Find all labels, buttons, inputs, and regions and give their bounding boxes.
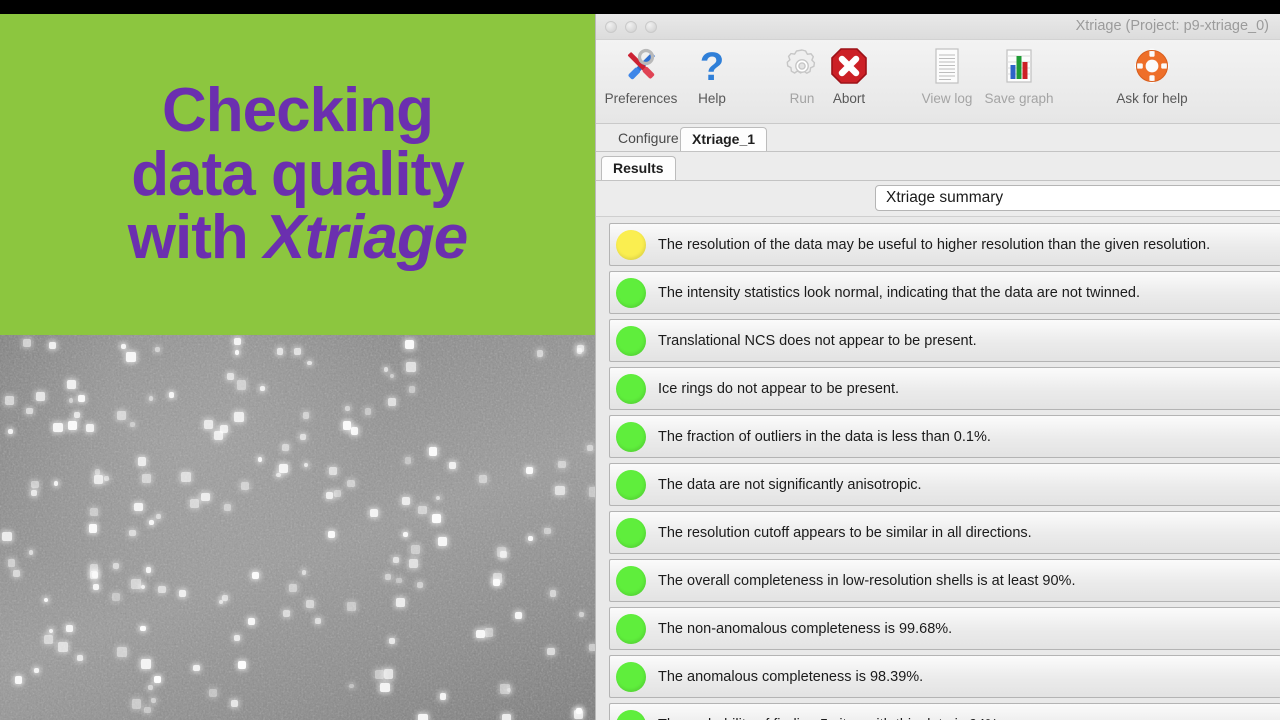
title-line-3-italic: Xtriage (264, 203, 467, 272)
diffraction-spot (158, 586, 166, 594)
diffraction-spot (440, 693, 447, 700)
result-row[interactable]: The intensity statistics look normal, in… (609, 271, 1280, 314)
screen: Checking data quality with Xtriage (0, 0, 1280, 720)
diffraction-spot (234, 338, 241, 345)
status-ok-icon (616, 374, 646, 404)
diffraction-spot (388, 398, 396, 406)
diffraction-spot (558, 461, 566, 469)
help-button[interactable]: ? Help (669, 42, 755, 106)
status-ok-icon (616, 614, 646, 644)
diffraction-spot (283, 610, 290, 617)
document-icon (926, 42, 968, 90)
diffraction-spot (220, 425, 228, 433)
diffraction-spot (181, 472, 191, 482)
diffraction-spot (241, 482, 249, 490)
bar-chart-icon (998, 42, 1040, 90)
diffraction-spot (277, 348, 284, 355)
diffraction-spot (248, 618, 255, 625)
diffraction-spot (66, 625, 74, 633)
diffraction-spot (418, 714, 428, 720)
diffraction-spot (303, 412, 310, 419)
diffraction-spot (537, 350, 544, 357)
diffraction-spot (380, 683, 390, 693)
diffraction-spot (502, 714, 510, 720)
diffraction-spot (67, 380, 77, 390)
diffraction-spot (409, 559, 418, 568)
diffraction-spot (411, 545, 420, 554)
diffraction-spot (112, 593, 120, 601)
save-graph-button[interactable]: Save graph (976, 42, 1062, 106)
diffraction-spot (90, 508, 98, 516)
diffraction-spot (69, 398, 74, 403)
diffraction-spot (429, 447, 438, 456)
sub-tab-bar: Results (596, 152, 1280, 181)
diffraction-spot (384, 367, 389, 372)
result-row[interactable]: Translational NCS does not appear to be … (609, 319, 1280, 362)
x-ray-diffraction-image (0, 335, 595, 720)
diffraction-spot (485, 628, 494, 637)
diffraction-spot (117, 411, 126, 420)
diffraction-spot (53, 423, 63, 433)
result-text: The fraction of outliers in the data is … (658, 429, 991, 445)
result-row[interactable]: The resolution cutoff appears to be simi… (609, 511, 1280, 554)
diffraction-spot (438, 537, 447, 546)
abort-button[interactable]: Abort (806, 42, 892, 106)
diffraction-spot (121, 344, 126, 349)
title-line-1: Checking (162, 79, 433, 143)
diffraction-spot (2, 532, 12, 542)
result-text: The overall completeness in low-resoluti… (658, 573, 1075, 589)
diffraction-spot (258, 457, 263, 462)
result-row[interactable]: The data are not significantly anisotrop… (609, 463, 1280, 506)
abort-label: Abort (833, 91, 865, 106)
diffraction-spot (343, 421, 352, 430)
diffraction-spot (417, 582, 423, 588)
result-text: The intensity statistics look normal, in… (658, 285, 1140, 301)
diffraction-spot (130, 422, 135, 427)
diffraction-spot (141, 659, 151, 669)
diffraction-spot (126, 352, 136, 362)
diffraction-spot (300, 434, 306, 440)
diffraction-spot (149, 520, 154, 525)
diffraction-spot (5, 396, 14, 405)
diffraction-spot (151, 698, 156, 703)
preferences-label: Preferences (605, 91, 678, 106)
diffraction-spot (328, 531, 335, 538)
results-list[interactable]: The resolution of the data may be useful… (596, 217, 1280, 720)
tools-icon (620, 42, 662, 90)
diffraction-spot (574, 710, 583, 719)
diffraction-spot (389, 638, 395, 644)
diffraction-spot (179, 590, 186, 597)
diffraction-spot (555, 486, 565, 496)
diffraction-spot (142, 474, 151, 483)
title-line-2: data quality (131, 143, 464, 207)
result-row[interactable]: The overall completeness in low-resoluti… (609, 559, 1280, 602)
window-controls[interactable] (605, 21, 657, 33)
title-line-3: with Xtriage (128, 206, 467, 270)
diffraction-spot (370, 509, 378, 517)
ask-for-help-button[interactable]: Ask for help (1102, 42, 1202, 106)
diffraction-spot (528, 536, 533, 541)
status-ok-icon (616, 278, 646, 308)
diffraction-spot (155, 347, 160, 352)
diffraction-spot (544, 528, 551, 535)
diffraction-spot (476, 630, 484, 638)
diffraction-spot (449, 462, 456, 469)
window-title-bar: Xtriage (Project: p9-xtriage_0) (596, 14, 1280, 40)
diffraction-spot (222, 595, 228, 601)
svg-text:?: ? (700, 45, 724, 87)
diffraction-spot (58, 642, 68, 652)
result-row[interactable]: The resolution of the data may be useful… (609, 223, 1280, 266)
diffraction-spot (351, 427, 359, 435)
diffraction-spot (347, 602, 356, 611)
diffraction-spot (134, 503, 143, 512)
window-title: Xtriage (Project: p9-xtriage_0) (1076, 18, 1269, 34)
diffraction-spot (90, 564, 98, 572)
status-ok-icon (616, 566, 646, 596)
result-text: The data are not significantly anisotrop… (658, 477, 922, 493)
diffraction-spot (68, 421, 77, 430)
diffraction-spot (238, 661, 246, 669)
diffraction-spot (349, 684, 354, 689)
diffraction-spot (149, 396, 154, 401)
diffraction-spot (93, 584, 99, 590)
diffraction-spot (393, 557, 399, 563)
diffraction-spot (227, 373, 234, 380)
diffraction-spot (90, 571, 98, 579)
diffraction-spot (144, 707, 151, 714)
result-row[interactable]: The probability of finding 5 sites with … (609, 703, 1280, 720)
main-tab-bar: Configure Xtriage_1 (596, 124, 1280, 152)
diffraction-spot (493, 573, 503, 583)
diffraction-spot (201, 493, 210, 502)
title-line-3-plain: with (128, 203, 264, 272)
tab-results[interactable]: Results (601, 156, 676, 180)
diffraction-spot (190, 499, 199, 508)
question-icon: ? (691, 42, 733, 90)
diffraction-spot (8, 559, 16, 567)
view-log-label: View log (922, 91, 973, 106)
diffraction-spot (406, 362, 416, 372)
diffraction-spot (15, 676, 23, 684)
diffraction-spot (375, 670, 384, 679)
result-text: The resolution of the data may be useful… (658, 237, 1210, 253)
diffraction-spot (515, 612, 523, 620)
result-text: The resolution cutoff appears to be simi… (658, 525, 1032, 541)
diffraction-spot (146, 567, 151, 572)
diffraction-spot (231, 700, 238, 707)
diffraction-spot (78, 395, 85, 402)
diffraction-spot (329, 467, 337, 475)
summary-select[interactable]: Xtriage summary (875, 185, 1280, 211)
diffraction-spot (396, 578, 402, 584)
tab-xtriage-1[interactable]: Xtriage_1 (680, 127, 767, 151)
diffraction-spot (13, 570, 20, 577)
diffraction-spot (365, 408, 372, 415)
diffraction-spot (579, 612, 584, 617)
main-toolbar: Preferences ? Help (596, 40, 1280, 124)
diffraction-spot (577, 345, 584, 352)
diffraction-spot (302, 570, 306, 574)
diffraction-spot (74, 412, 80, 418)
diffraction-spot (156, 514, 161, 519)
diffraction-spot (234, 412, 244, 422)
diffraction-spot (418, 506, 427, 515)
diffraction-spot (86, 424, 94, 432)
diffraction-spot (209, 689, 217, 697)
diffraction-spot (385, 574, 391, 580)
status-ok-icon (616, 422, 646, 452)
diffraction-spot (23, 339, 31, 347)
diffraction-spot (113, 563, 120, 570)
diffraction-spot (169, 392, 174, 397)
diffraction-spot (384, 669, 394, 679)
result-row[interactable]: The fraction of outliers in the data is … (609, 415, 1280, 458)
diffraction-spot (294, 348, 301, 355)
diffraction-spot (77, 655, 83, 661)
diffraction-spot (550, 590, 557, 597)
diffraction-spot (334, 490, 341, 497)
result-text: Translational NCS does not appear to be … (658, 333, 977, 349)
diffraction-spot (345, 406, 350, 411)
result-row[interactable]: The non-anomalous completeness is 99.68%… (609, 607, 1280, 650)
diffraction-spot (315, 618, 321, 624)
diffraction-spot (129, 530, 135, 536)
diffraction-spot (402, 497, 410, 505)
diffraction-spot (405, 340, 414, 349)
diffraction-spot (396, 598, 405, 607)
status-ok-icon (616, 710, 646, 720)
diffraction-spot (54, 481, 59, 486)
close-icon[interactable] (605, 21, 617, 33)
ask-for-help-label: Ask for help (1116, 91, 1187, 106)
diffraction-spot (95, 469, 101, 475)
diffraction-spot (276, 473, 281, 478)
status-ok-icon (616, 518, 646, 548)
diffraction-spot (500, 551, 507, 558)
diffraction-spot (31, 481, 39, 489)
diffraction-spot (224, 504, 231, 511)
diffraction-spot (104, 476, 109, 481)
status-ok-icon (616, 470, 646, 500)
diffraction-spot (117, 647, 127, 657)
minimize-icon[interactable] (625, 21, 637, 33)
diffraction-spot (36, 392, 46, 402)
diffraction-spot (138, 457, 147, 466)
diffraction-spot (26, 408, 33, 415)
diffraction-spot (8, 429, 13, 434)
diffraction-spot (234, 635, 240, 641)
result-text: The non-anomalous completeness is 99.68%… (658, 621, 952, 637)
presentation-slide: Checking data quality with Xtriage (0, 14, 595, 720)
diffraction-spot (132, 699, 142, 709)
diffraction-spot (326, 492, 333, 499)
diffraction-spot (235, 350, 240, 355)
zoom-icon[interactable] (645, 21, 657, 33)
slide-title-card: Checking data quality with Xtriage (0, 14, 595, 335)
diffraction-spot (479, 475, 487, 483)
diffraction-spot (204, 420, 213, 429)
diffraction-spot (279, 464, 287, 472)
result-row[interactable]: Ice rings do not appear to be present. (609, 367, 1280, 410)
diffraction-spot (500, 684, 510, 694)
diffraction-spot (89, 524, 97, 532)
diffraction-spot (547, 648, 555, 656)
diffraction-spot (306, 600, 314, 608)
result-text: Ice rings do not appear to be present. (658, 381, 899, 397)
diffraction-spot (282, 444, 289, 451)
result-text: The anomalous completeness is 98.39%. (658, 669, 923, 685)
diffraction-spot (347, 480, 355, 488)
help-label: Help (698, 91, 726, 106)
diffraction-spot (154, 676, 161, 683)
diffraction-spot (44, 635, 53, 644)
lifering-icon (1131, 42, 1173, 90)
result-row[interactable]: The anomalous completeness is 98.39%. (609, 655, 1280, 698)
diffraction-spot (131, 579, 141, 589)
stop-icon (828, 42, 870, 90)
tab-configure[interactable]: Configure (607, 127, 690, 151)
summary-selector-bar: Xtriage summary (596, 181, 1280, 217)
diffraction-spot (405, 457, 412, 464)
status-ok-icon (616, 326, 646, 356)
diffraction-spot (193, 665, 200, 672)
save-graph-label: Save graph (984, 91, 1053, 106)
diffraction-spot (409, 386, 415, 392)
result-text: The probability of finding 5 sites with … (658, 717, 1002, 720)
diffraction-spot (49, 342, 55, 348)
diffraction-spot (237, 380, 247, 390)
status-ok-icon (616, 662, 646, 692)
diffraction-spot (94, 475, 103, 484)
diffraction-spot (252, 572, 259, 579)
diffraction-spot (289, 584, 297, 592)
status-warning-icon (616, 230, 646, 260)
diffraction-spot (31, 490, 37, 496)
diffraction-spot (432, 514, 441, 523)
xtriage-application-window: Xtriage (Project: p9-xtriage_0) (595, 14, 1280, 720)
diffraction-spot (526, 467, 533, 474)
